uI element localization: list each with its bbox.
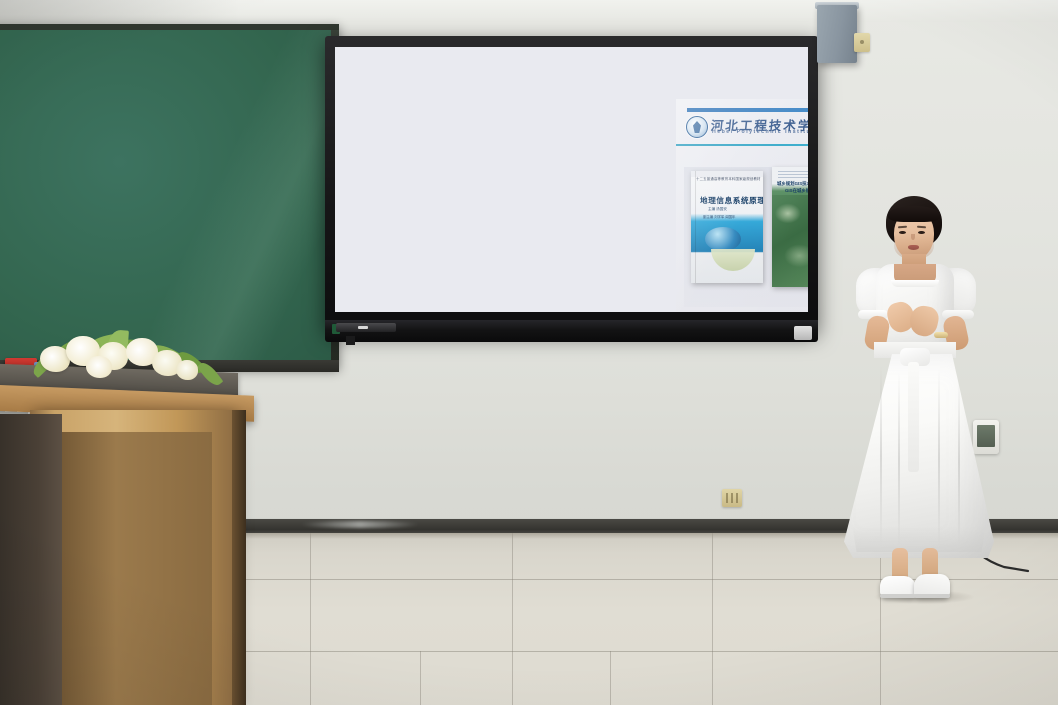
school-name-en: Hebei Polytechnic Institute	[712, 129, 808, 135]
aerial-photo-graphic	[772, 195, 808, 287]
book1-title: 地理信息系统原理	[700, 195, 763, 206]
smartboard-control-strip[interactable]	[336, 323, 396, 332]
book2-title-line2: GIS在城乡规划中的应用	[785, 188, 808, 194]
book-cover-secondary: 城乡规划GIS技术应用指南 GIS在城乡规划中的应用	[772, 167, 808, 287]
smartboard-brand-plate	[794, 326, 812, 340]
wall-top-molding	[0, 0, 1058, 22]
book2-title-line1: 城乡规划GIS技术应用指南	[777, 181, 808, 187]
book1-authors2: 副主编 刘学军 闾国年	[703, 214, 735, 219]
hair-front	[888, 206, 940, 222]
globe-graphic-icon	[705, 227, 741, 251]
book1-publisher: 十二五普通高等教育本科国家级规划教材	[696, 176, 761, 181]
wall-outlet	[854, 33, 870, 52]
book1-authors: 主编 汤国安	[708, 207, 727, 212]
podium-edge	[232, 410, 246, 705]
podium-side	[0, 414, 62, 705]
smartboard-screen[interactable]: 河北工程技术学院 Hebei Polytechnic Institute 教材分…	[335, 47, 808, 312]
book-cover-primary: 十二五普通高等教育本科国家级规划教材 地理信息系统原理 主编 汤国安 副主编 刘…	[691, 171, 763, 283]
smartboard-foot	[346, 336, 355, 345]
smartboard-chin	[325, 320, 818, 342]
classroom-scene: 河北工程技术学院 Hebei Polytechnic Institute 教材分…	[0, 0, 1058, 705]
neckline-trim	[891, 280, 939, 287]
skirt-hem	[848, 526, 990, 552]
slide-header-rule	[676, 144, 808, 146]
chalkboard-glare	[150, 30, 340, 360]
power-socket	[722, 489, 742, 507]
waist-sash	[908, 362, 919, 472]
map-graphic-icon	[711, 249, 755, 271]
podium-panel	[52, 432, 212, 705]
bracelet	[934, 332, 948, 338]
school-logo-icon	[686, 116, 708, 138]
wall-speaker	[817, 5, 857, 63]
presenter	[846, 196, 1036, 606]
slide-accent-bar-top	[687, 108, 808, 112]
